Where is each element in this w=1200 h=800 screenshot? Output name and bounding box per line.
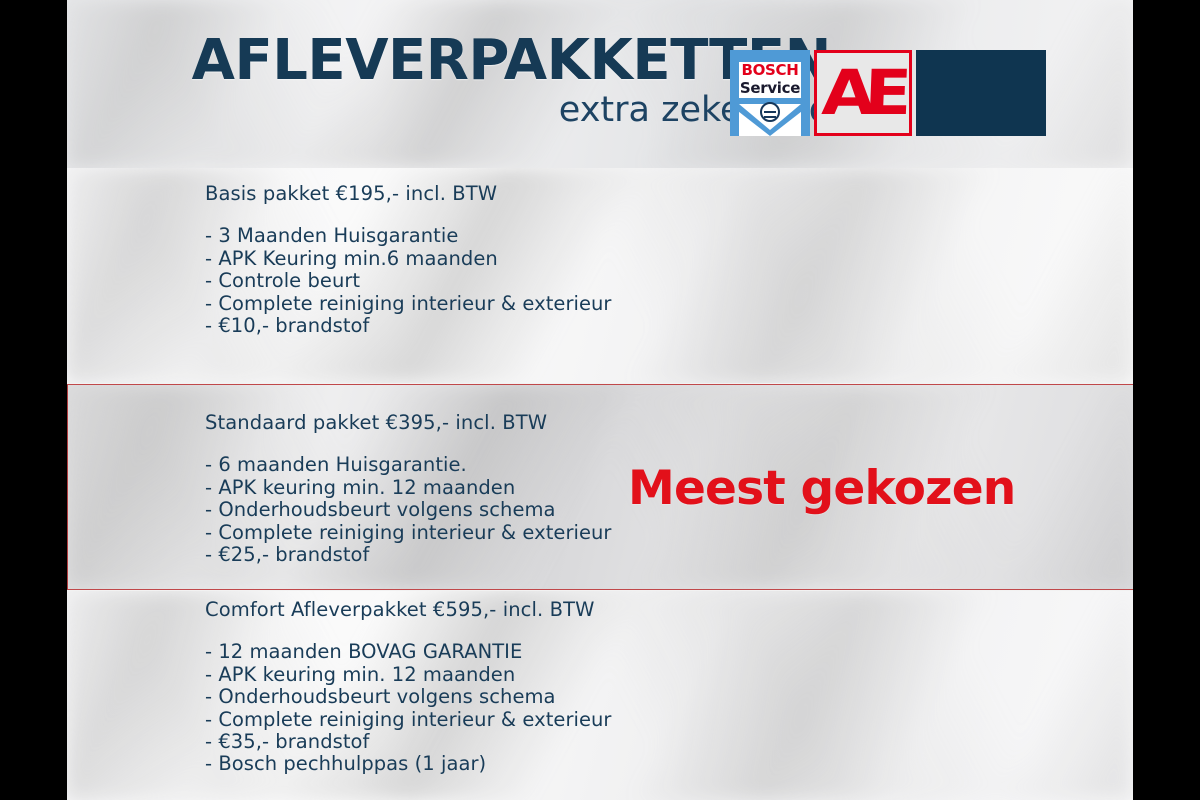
logo-strip: BOSCH Service AE	[730, 50, 1046, 136]
list-item: - 3 Maanden Huisgarantie	[205, 225, 612, 247]
list-item: - APK keuring min. 12 maanden	[205, 477, 612, 499]
package-basis-list: - 3 Maanden Huisgarantie - APK Keuring m…	[205, 225, 612, 337]
list-item: - Complete reiniging interieur & exterie…	[205, 293, 612, 315]
list-item: - Controle beurt	[205, 270, 612, 292]
package-comfort-content: Comfort Afleverpakket €595,- incl. BTW -…	[205, 599, 612, 776]
list-item: - €35,- brandstof	[205, 731, 612, 753]
bosch-armature-icon	[760, 102, 780, 122]
list-item: - Complete reiniging interieur & exterie…	[205, 522, 612, 544]
list-item: - Complete reiniging interieur & exterie…	[205, 709, 612, 731]
header-band: AFLEVERPAKKETTEN extra zekerheid BOSCH S…	[67, 0, 1133, 168]
package-standaard-list: - 6 maanden Huisgarantie. - APK keuring …	[205, 454, 612, 566]
ae-wordmark: AE	[820, 62, 901, 124]
afleverpakketten-poster: AFLEVERPAKKETTEN extra zekerheid BOSCH S…	[0, 0, 1200, 800]
letterbox-bar-left	[0, 0, 67, 800]
list-item: - 6 maanden Huisgarantie.	[205, 454, 612, 476]
package-comfort-title: Comfort Afleverpakket €595,- incl. BTW	[205, 599, 612, 620]
package-basis-content: Basis pakket €195,- incl. BTW - 3 Maande…	[205, 183, 612, 337]
bosch-service-icon: BOSCH Service	[730, 50, 810, 136]
list-item: - €25,- brandstof	[205, 544, 612, 566]
letterbox-bar-right	[1133, 0, 1200, 800]
status-badge-most-chosen: Meest gekozen	[628, 465, 1015, 512]
content-slab: AFLEVERPAKKETTEN extra zekerheid BOSCH S…	[67, 0, 1133, 800]
package-basis-title: Basis pakket €195,- incl. BTW	[205, 183, 612, 204]
bosch-wordmark: BOSCH	[730, 63, 810, 78]
list-item: - Onderhoudsbeurt volgens schema	[205, 499, 612, 521]
package-standaard-content: Standaard pakket €395,- incl. BTW - 6 ma…	[205, 412, 612, 566]
package-standaard-title: Standaard pakket €395,- incl. BTW	[205, 412, 612, 433]
ae-logo-icon: AE	[814, 50, 912, 136]
list-item: - APK keuring min. 12 maanden	[205, 664, 612, 686]
list-item: - €10,- brandstof	[205, 315, 612, 337]
package-comfort-list: - 12 maanden BOVAG GARANTIE - APK keurin…	[205, 641, 612, 775]
list-item: - 12 maanden BOVAG GARANTIE	[205, 641, 612, 663]
navy-plate-logo	[916, 50, 1046, 136]
bosch-service-label: Service	[730, 81, 810, 96]
list-item: - Onderhoudsbeurt volgens schema	[205, 686, 612, 708]
list-item: - APK Keuring min.6 maanden	[205, 248, 612, 270]
list-item: - Bosch pechhulppas (1 jaar)	[205, 753, 612, 775]
